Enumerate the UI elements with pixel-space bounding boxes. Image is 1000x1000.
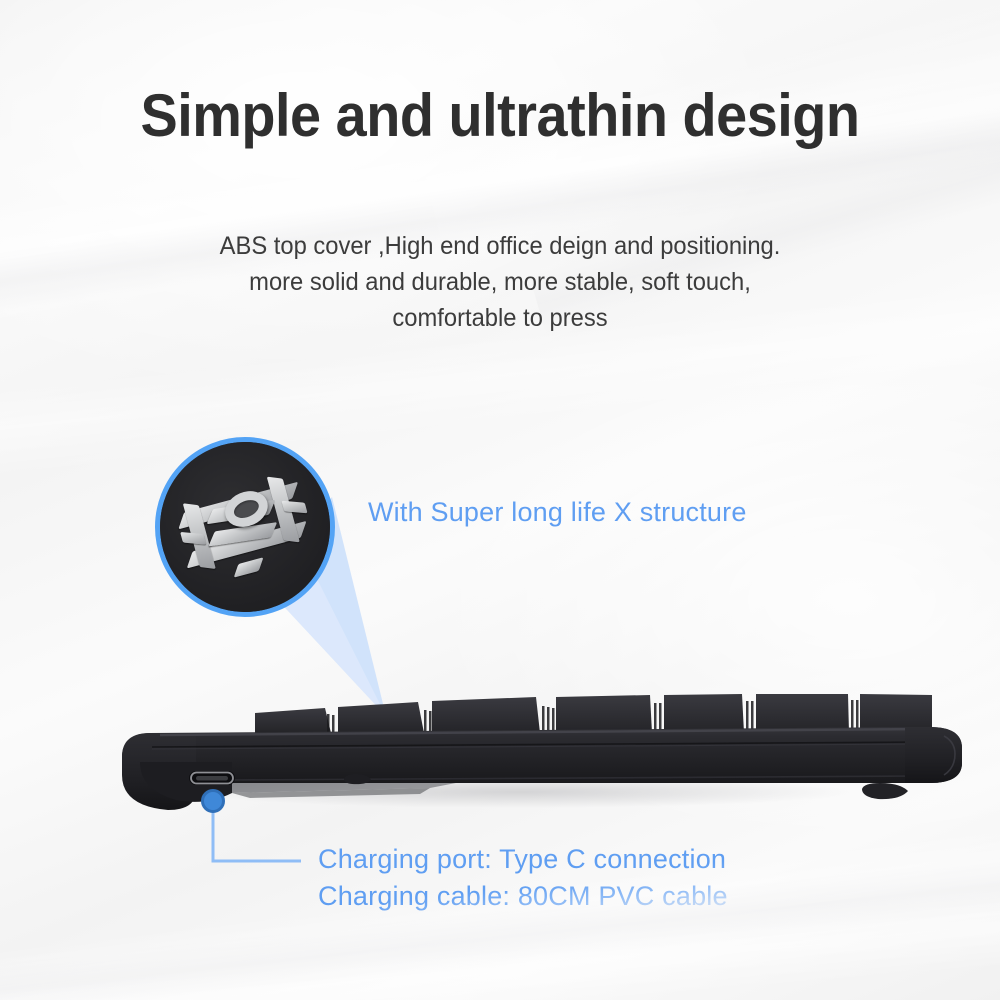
charging-callout-label: Charging port: Type C connection Chargin… xyxy=(318,841,728,915)
subtitle-line-2: more solid and durable, more stable, sof… xyxy=(111,264,890,300)
page-subtitle: ABS top cover ,High end office deign and… xyxy=(111,228,890,336)
usb-type-c-port-icon xyxy=(189,771,235,785)
charging-port-line: Charging port: Type C connection xyxy=(318,841,728,878)
x-structure-callout-label: With Super long life X structure xyxy=(368,495,747,529)
x-structure-inset-circle xyxy=(155,437,335,617)
product-marketing-slide: Simple and ultrathin design ABS top cove… xyxy=(0,0,1000,1000)
subtitle-line-1: ABS top cover ,High end office deign and… xyxy=(111,228,890,264)
blue-dot-marker-icon xyxy=(201,789,225,813)
charging-cable-line: Charging cable: 80CM PVC cable xyxy=(318,878,728,915)
page-title: Simple and ultrathin design xyxy=(35,82,965,150)
subtitle-line-3: comfortable to press xyxy=(111,300,890,336)
charging-callout-leader-line xyxy=(213,812,301,861)
